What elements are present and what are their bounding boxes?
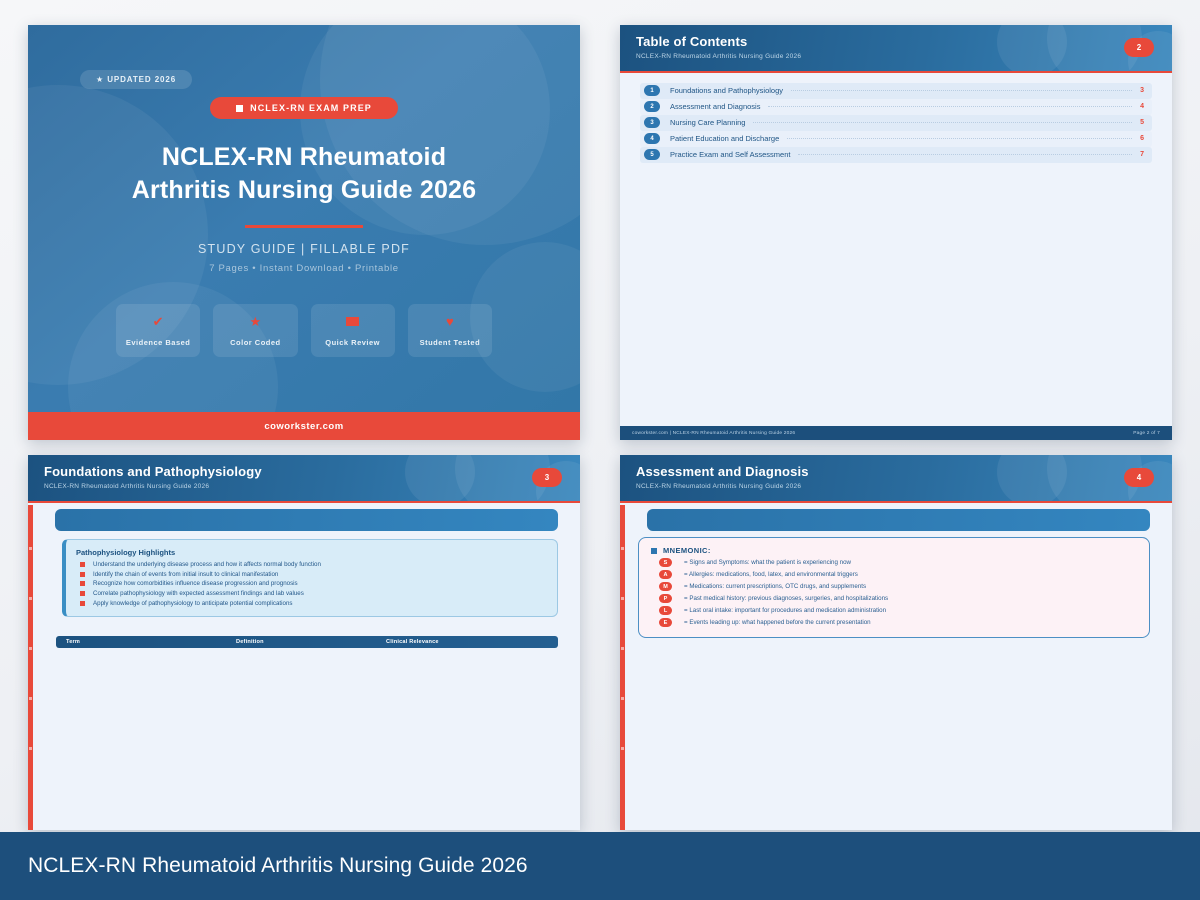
square-icon — [236, 105, 243, 112]
footer-right-text: Page 2 of 7 — [1133, 431, 1160, 436]
section-title-bar — [647, 509, 1150, 531]
mnemonic-key: S — [659, 558, 672, 567]
decorative-circle — [405, 455, 475, 503]
square-icon — [651, 548, 657, 554]
left-accent-rail — [620, 505, 625, 830]
mnemonic-card: MNEMONIC: S = Signs and Symptoms: what t… — [638, 537, 1150, 638]
bullet-icon — [80, 572, 85, 577]
bullet-icon — [80, 581, 85, 586]
title-divider — [245, 225, 363, 228]
mnemonic-key: A — [659, 570, 672, 579]
mnemonic-title-label: MNEMONIC: — [663, 546, 711, 555]
toc-item-number: 5 — [644, 149, 660, 160]
toc-item-label: Assessment and Diagnosis — [670, 102, 760, 111]
mnemonic-key: L — [659, 606, 672, 615]
toc-item-1[interactable]: 1 Foundations and Pathophysiology 3 — [640, 83, 1152, 99]
exam-prep-badge-label: NCLEX-RN EXAM PREP — [250, 103, 372, 113]
toc-list: 1 Foundations and Pathophysiology 3 2 As… — [640, 83, 1152, 163]
check-icon: ✔ — [120, 315, 196, 330]
page-number-badge: 2 — [1124, 38, 1154, 57]
feature-label: Student Tested — [412, 338, 488, 347]
toc-item-label: Foundations and Pathophysiology — [670, 86, 783, 95]
mnemonic-row: E = Events leading up: what happened bef… — [651, 618, 1137, 627]
mnemonic-text: = Allergies: medications, food, latex, a… — [684, 571, 858, 578]
toc-item-label: Practice Exam and Self Assessment — [670, 150, 790, 159]
toc-leader-dots — [791, 90, 1132, 91]
left-accent-rail — [28, 505, 33, 830]
page-title: Foundations and Pathophysiology — [44, 464, 262, 479]
toc-item-page: 4 — [1140, 103, 1144, 110]
decorative-circle — [997, 25, 1067, 73]
heart-icon: ♥ — [412, 315, 488, 330]
toc-header: Table of Contents NCLEX-RN Rheumatoid Ar… — [620, 25, 1172, 73]
cover-hero: NCLEX-RN EXAM PREP NCLEX-RN Rheumatoid A… — [28, 97, 580, 274]
toc-leader-dots — [753, 122, 1132, 123]
bullet-icon — [80, 591, 85, 596]
page4-body: MNEMONIC: S = Signs and Symptoms: what t… — [620, 505, 1172, 830]
star-icon: ★ — [217, 315, 293, 330]
caption-bar: NCLEX-RN Rheumatoid Arthritis Nursing Gu… — [0, 832, 1200, 900]
toc-body: 1 Foundations and Pathophysiology 3 2 As… — [620, 75, 1172, 440]
page4-header: Assessment and Diagnosis NCLEX-RN Rheuma… — [620, 455, 1172, 503]
toc-item-page: 5 — [1140, 119, 1144, 126]
cover-subtitle: STUDY GUIDE | FILLABLE PDF — [68, 242, 540, 256]
page-title: Assessment and Diagnosis — [636, 464, 809, 479]
toc-item-number: 4 — [644, 133, 660, 144]
bullet-icon — [80, 562, 85, 567]
cover-title-line-1: NCLEX-RN Rheumatoid — [68, 141, 540, 174]
footer-left-text: coworkster.com | NCLEX-RN Rheumatoid Art… — [632, 431, 795, 436]
page-subtitle: NCLEX-RN Rheumatoid Arthritis Nursing Gu… — [636, 483, 801, 490]
highlight-text: Correlate pathophysiology with expected … — [93, 590, 304, 597]
highlight-text: Apply knowledge of pathophysiology to an… — [93, 600, 293, 607]
page-title: Table of Contents — [636, 34, 747, 49]
table-column-term: Term — [66, 639, 236, 645]
feature-label: Evidence Based — [120, 338, 196, 347]
section-title-bar — [55, 509, 558, 531]
square-icon — [315, 315, 391, 330]
toc-item-3[interactable]: 3 Nursing Care Planning 5 — [640, 115, 1152, 131]
toc-item-label: Patient Education and Discharge — [670, 134, 779, 143]
feature-label: Quick Review — [315, 338, 391, 347]
page-number-badge: 4 — [1124, 468, 1154, 487]
exam-prep-badge: NCLEX-RN EXAM PREP — [210, 97, 398, 119]
cover-footer-url: coworkster.com — [28, 412, 580, 440]
foundations-page[interactable]: Foundations and Pathophysiology NCLEX-RN… — [28, 455, 580, 830]
page3-header: Foundations and Pathophysiology NCLEX-RN… — [28, 455, 580, 503]
toc-leader-dots — [798, 154, 1132, 155]
toc-item-label: Nursing Care Planning — [670, 118, 745, 127]
decorative-circle — [997, 455, 1067, 503]
toc-item-number: 3 — [644, 117, 660, 128]
terms-table-header: Term Definition Clinical Relevance — [56, 636, 558, 648]
feature-evidence-based: ✔ Evidence Based — [116, 304, 200, 357]
page-number-badge: 3 — [532, 468, 562, 487]
mnemonic-text: = Events leading up: what happened befor… — [684, 619, 871, 626]
feature-color-coded: ★ Color Coded — [213, 304, 297, 357]
mnemonic-row: S = Signs and Symptoms: what the patient… — [651, 558, 1137, 567]
mnemonic-key: P — [659, 594, 672, 603]
mnemonic-text: = Past medical history: previous diagnos… — [684, 595, 888, 602]
toc-item-5[interactable]: 5 Practice Exam and Self Assessment 7 — [640, 147, 1152, 163]
feature-label: Color Coded — [217, 338, 293, 347]
highlight-item: Apply knowledge of pathophysiology to an… — [76, 600, 547, 607]
pathophysiology-highlights-card: Pathophysiology Highlights Understand th… — [62, 539, 558, 617]
toc-leader-dots — [768, 106, 1132, 107]
toc-item-2[interactable]: 2 Assessment and Diagnosis 4 — [640, 99, 1152, 115]
cover-meta: 7 Pages • Instant Download • Printable — [68, 263, 540, 274]
caption-text: NCLEX-RN Rheumatoid Arthritis Nursing Gu… — [28, 854, 528, 878]
mnemonic-text: = Last oral intake: important for proced… — [684, 607, 886, 614]
mnemonic-text: = Signs and Symptoms: what the patient i… — [684, 559, 851, 566]
cover-title: NCLEX-RN Rheumatoid Arthritis Nursing Gu… — [68, 141, 540, 207]
toc-item-number: 2 — [644, 101, 660, 112]
page-footer: coworkster.com | NCLEX-RN Rheumatoid Art… — [620, 426, 1172, 440]
highlight-text: Identify the chain of events from initia… — [93, 571, 278, 578]
mnemonic-row: P = Past medical history: previous diagn… — [651, 594, 1137, 603]
mnemonic-key: E — [659, 618, 672, 627]
highlight-text: Recognize how comorbidities influence di… — [93, 580, 298, 587]
page3-body: Pathophysiology Highlights Understand th… — [28, 505, 580, 830]
mnemonic-text: = Medications: current prescriptions, OT… — [684, 583, 866, 590]
mnemonic-row: A = Allergies: medications, food, latex,… — [651, 570, 1137, 579]
feature-quick-review: Quick Review — [311, 304, 395, 357]
feature-student-tested: ♥ Student Tested — [408, 304, 492, 357]
mnemonic-row: M = Medications: current prescriptions, … — [651, 582, 1137, 591]
highlight-item: Recognize how comorbidities influence di… — [76, 580, 547, 587]
page-subtitle: NCLEX-RN Rheumatoid Arthritis Nursing Gu… — [636, 53, 801, 60]
toc-item-number: 1 — [644, 85, 660, 96]
assessment-page[interactable]: Assessment and Diagnosis NCLEX-RN Rheuma… — [620, 455, 1172, 830]
mnemonic-row: L = Last oral intake: important for proc… — [651, 606, 1137, 615]
table-column-definition: Definition — [236, 639, 386, 645]
toc-leader-dots — [787, 138, 1132, 139]
highlights-title: Pathophysiology Highlights — [76, 548, 547, 557]
highlight-item: Identify the chain of events from initia… — [76, 571, 547, 578]
page-subtitle: NCLEX-RN Rheumatoid Arthritis Nursing Gu… — [44, 483, 209, 490]
toc-item-page: 7 — [1140, 151, 1144, 158]
mnemonic-title: MNEMONIC: — [651, 546, 1137, 555]
table-column-relevance: Clinical Relevance — [386, 639, 558, 645]
feature-badges: ✔ Evidence Based ★ Color Coded Quick Rev… — [116, 304, 492, 357]
updated-badge: ★ UPDATED 2026 — [80, 70, 192, 89]
highlight-text: Understand the underlying disease proces… — [93, 561, 321, 568]
highlight-item: Understand the underlying disease proces… — [76, 561, 547, 568]
bullet-icon — [80, 601, 85, 606]
table-of-contents-page[interactable]: Table of Contents NCLEX-RN Rheumatoid Ar… — [620, 25, 1172, 440]
mnemonic-key: M — [659, 582, 672, 591]
toc-item-4[interactable]: 4 Patient Education and Discharge 6 — [640, 131, 1152, 147]
cover-title-line-2: Arthritis Nursing Guide 2026 — [68, 174, 540, 207]
cover-background: ★ UPDATED 2026 NCLEX-RN EXAM PREP NCLEX-… — [28, 25, 580, 412]
highlight-item: Correlate pathophysiology with expected … — [76, 590, 547, 597]
toc-item-page: 3 — [1140, 87, 1144, 94]
cover-page[interactable]: ★ UPDATED 2026 NCLEX-RN EXAM PREP NCLEX-… — [28, 25, 580, 440]
toc-item-page: 6 — [1140, 135, 1144, 142]
